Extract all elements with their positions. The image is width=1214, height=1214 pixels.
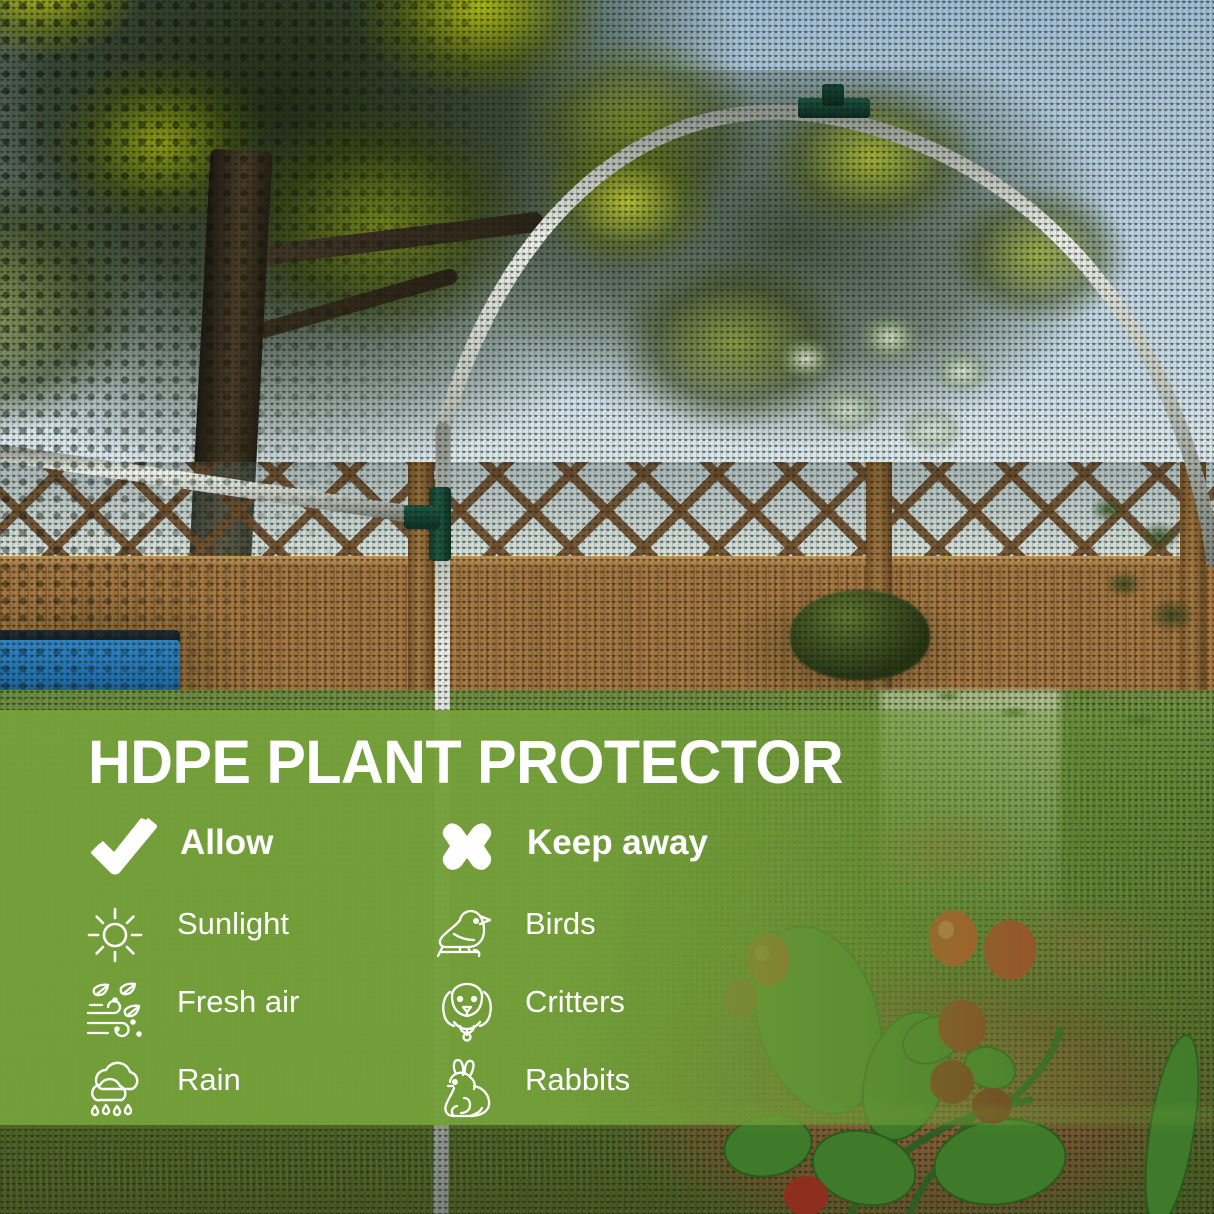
hoop-horizontal-bar — [0, 452, 437, 518]
check-icon — [91, 818, 157, 881]
hoop-arc — [443, 112, 1214, 560]
net-clip-tie — [822, 84, 844, 106]
allow-item-label-rain: Rain — [177, 1062, 241, 1098]
dog-icon — [434, 982, 500, 1049]
info-panel: HDPE PLANT PROTECTOR Allow Keep away — [0, 710, 1214, 1125]
column-heading-allow: Allow — [180, 823, 273, 863]
product-marketing-image: HDPE PLANT PROTECTOR Allow Keep away — [0, 0, 1214, 1214]
allow-item-label-fresh-air: Fresh air — [177, 984, 299, 1020]
column-heading-keep-away: Keep away — [527, 823, 708, 863]
pole-connector-horizontal — [404, 505, 440, 529]
page-title: HDPE PLANT PROTECTOR — [88, 732, 843, 793]
keep-away-item-label-birds: Birds — [525, 906, 596, 942]
rabbit-icon — [434, 1058, 500, 1125]
rain-cloud-icon — [84, 1058, 150, 1125]
sun-icon — [84, 904, 146, 971]
keep-away-item-label-rabbits: Rabbits — [525, 1062, 630, 1098]
allow-item-label-sunlight: Sunlight — [177, 906, 289, 942]
cross-icon — [440, 822, 494, 879]
keep-away-item-label-critters: Critters — [525, 984, 625, 1020]
bird-icon — [434, 904, 500, 971]
wind-leaves-icon — [84, 982, 150, 1049]
